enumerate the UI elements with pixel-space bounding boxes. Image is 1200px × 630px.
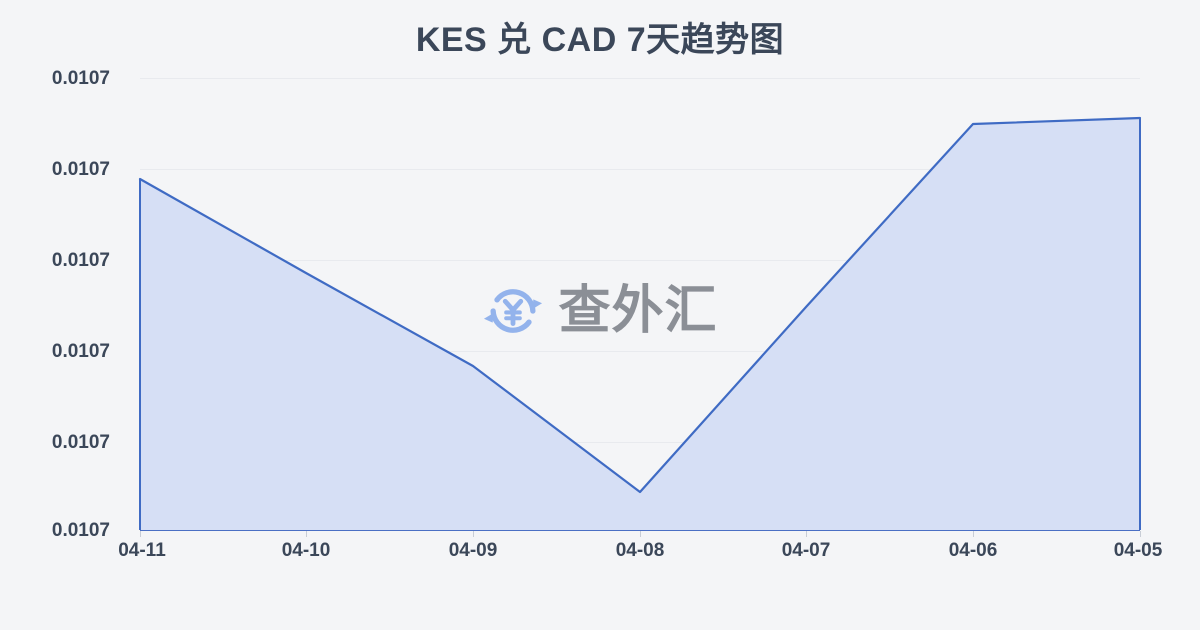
x-axis-tick (806, 531, 807, 537)
gridline (140, 351, 1140, 352)
y-axis-tick-label: 0.0107 (0, 432, 110, 454)
x-axis-tick (306, 531, 307, 537)
y-axis-tick-label: 0.0107 (0, 341, 110, 363)
x-axis-tick (473, 531, 474, 537)
x-axis-tick (640, 531, 641, 537)
plot-area (140, 78, 1140, 530)
exchange-rate-chart: KES 兑 CAD 7天趋势图 0.0107 0.0107 0.0107 0.0… (0, 0, 1200, 630)
chart-title: KES 兑 CAD 7天趋势图 (0, 18, 1200, 62)
x-axis-tick (140, 531, 141, 537)
x-axis-tick-label: 04-09 (403, 540, 543, 562)
y-axis-tick-label: 0.0107 (0, 520, 110, 542)
x-axis-tick-label: 04-11 (72, 540, 212, 562)
x-axis-tick-label: 04-07 (736, 540, 876, 562)
x-axis-tick-label: 04-06 (903, 540, 1043, 562)
gridline (140, 169, 1140, 170)
x-axis-tick-label: 04-10 (236, 540, 376, 562)
x-axis-tick (973, 531, 974, 537)
y-axis-tick-label: 0.0107 (0, 68, 110, 90)
y-axis-tick-label: 0.0107 (0, 159, 110, 181)
gridline (140, 442, 1140, 443)
gridline (140, 78, 1140, 79)
y-axis-tick-label: 0.0107 (0, 250, 110, 272)
x-axis-tick-label: 04-08 (570, 540, 710, 562)
x-axis-tick-label: 04-05 (1068, 540, 1200, 562)
x-axis-tick (1140, 531, 1141, 537)
gridline (140, 260, 1140, 261)
